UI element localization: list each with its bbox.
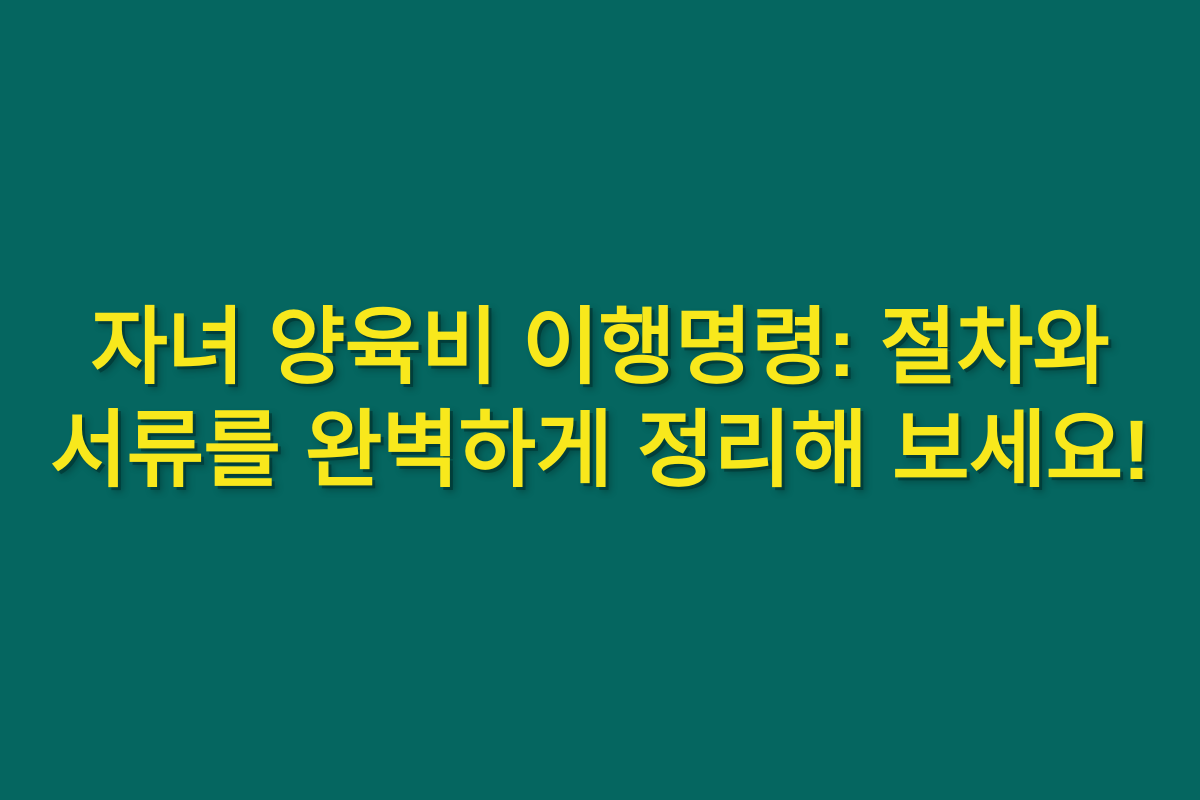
headline-line-2: 서류를 완벽하게 정리해 보세요!	[14, 399, 1186, 502]
headline-block: 자녀 양육비 이행명령: 절차와 서류를 완벽하게 정리해 보세요!	[0, 296, 1200, 502]
headline-line-1: 자녀 양육비 이행명령: 절차와	[17, 296, 1183, 399]
page-title: 자녀 양육비 이행명령: 절차와 서류를 완벽하게 정리해 보세요!	[14, 296, 1186, 502]
banner-canvas: 자녀 양육비 이행명령: 절차와 서류를 완벽하게 정리해 보세요!	[0, 0, 1200, 800]
